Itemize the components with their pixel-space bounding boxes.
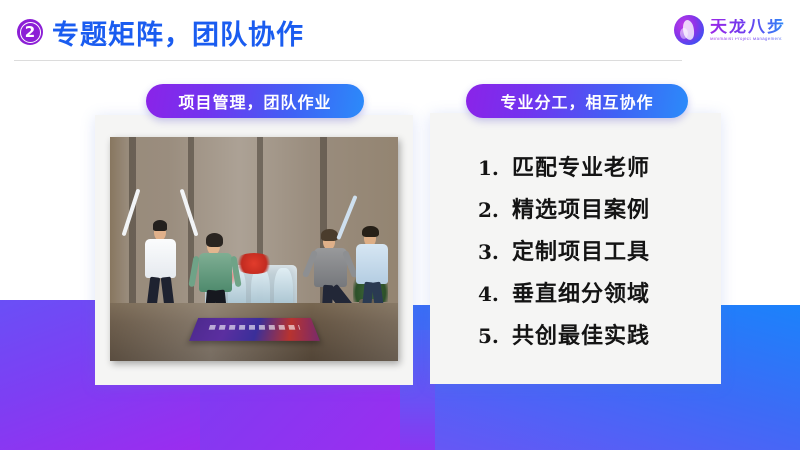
brand-logo: 天龙八步 Minimalist Project Management xyxy=(674,11,786,49)
header-divider xyxy=(14,60,682,61)
p4-hair xyxy=(362,226,378,238)
feature-list: 1. 匹配专业老师 2. 精选项目案例 3. 定制项目工具 4. 垂直细分领域 … xyxy=(478,150,718,360)
red-flower-decoration xyxy=(234,253,274,273)
list-item[interactable]: 5. 共创最佳实践 xyxy=(478,318,718,360)
p2-hair xyxy=(206,233,223,246)
left-pill-label: 项目管理，团队作业 xyxy=(178,89,331,113)
list-item-number: 3. xyxy=(478,240,512,264)
banner-table xyxy=(189,318,320,341)
list-item[interactable]: 2. 精选项目案例 xyxy=(478,192,718,234)
brand-tagline: Minimalist Project Management xyxy=(710,37,800,41)
p2-cardigan xyxy=(199,253,232,292)
right-panel-pill[interactable]: 专业分工，相互协作 xyxy=(466,84,688,118)
section-number: 2 xyxy=(25,25,35,40)
p3-hair xyxy=(321,229,338,241)
dragon-circle-icon xyxy=(674,15,704,45)
list-item-label: 精选项目案例 xyxy=(512,192,650,224)
list-item-number: 1. xyxy=(478,156,512,180)
list-item-label: 垂直细分领域 xyxy=(512,276,650,308)
slide-header: 2 专题矩阵，团队协作 天龙八步 Minimalist Project Mana… xyxy=(0,0,800,62)
list-item[interactable]: 4. 垂直细分领域 xyxy=(478,276,718,318)
brand-name: 天龙八步 xyxy=(710,19,786,36)
brand-text: 天龙八步 Minimalist Project Management xyxy=(710,19,786,41)
p4-shirt xyxy=(356,244,388,284)
team-photo xyxy=(110,137,398,361)
list-item-number: 4. xyxy=(478,282,512,306)
list-item[interactable]: 3. 定制项目工具 xyxy=(478,234,718,276)
section-number-badge: 2 xyxy=(17,19,43,45)
p1-hair xyxy=(153,220,168,230)
list-item-label: 定制项目工具 xyxy=(512,234,650,266)
list-item-number: 5. xyxy=(478,324,512,348)
p1-torso xyxy=(145,239,176,279)
right-pill-label: 专业分工，相互协作 xyxy=(500,89,653,113)
list-item-label: 匹配专业老师 xyxy=(512,150,650,182)
list-item-number: 2. xyxy=(478,198,512,222)
left-panel-pill[interactable]: 项目管理，团队作业 xyxy=(146,84,364,118)
list-item[interactable]: 1. 匹配专业老师 xyxy=(478,150,718,192)
page-title: 专题矩阵，团队协作 xyxy=(52,13,304,52)
banner-table-text xyxy=(208,325,300,329)
slide-canvas: 2 专题矩阵，团队协作 天龙八步 Minimalist Project Mana… xyxy=(0,0,800,450)
list-item-label: 共创最佳实践 xyxy=(512,318,650,350)
